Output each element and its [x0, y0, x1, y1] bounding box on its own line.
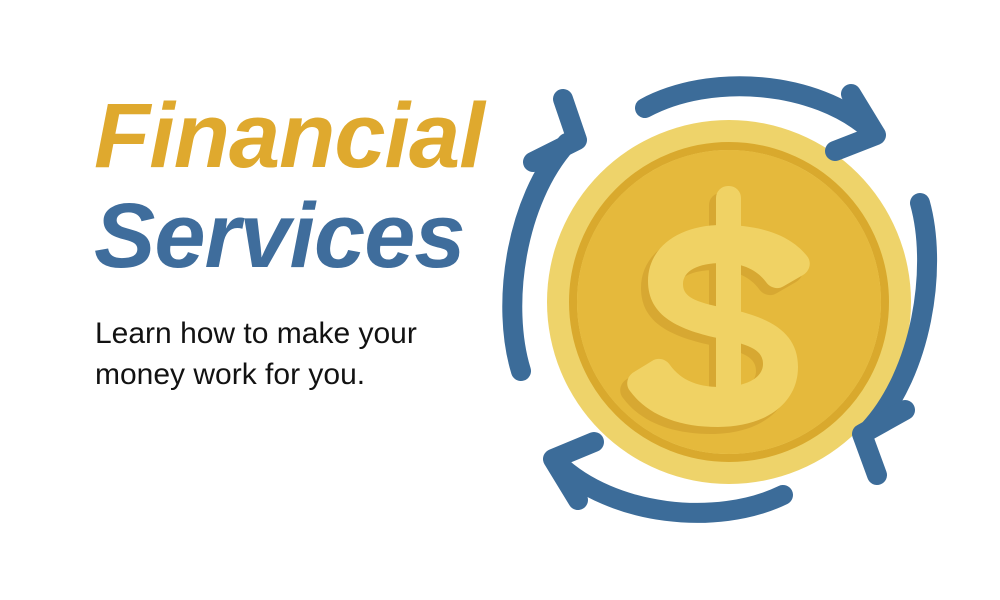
headline-block: Financial Services — [94, 86, 514, 286]
page-title-line-1: Financial — [94, 86, 514, 186]
subtitle-line-2: money work for you. — [95, 354, 495, 395]
financial-services-banner: Financial Services Learn how to make you… — [0, 0, 1000, 600]
dollar-coin-illustration — [495, 55, 965, 535]
subtitle-text: Learn how to make your money work for yo… — [95, 313, 495, 395]
subtitle-line-1: Learn how to make your — [95, 313, 495, 354]
page-title-line-2: Services — [94, 186, 514, 286]
